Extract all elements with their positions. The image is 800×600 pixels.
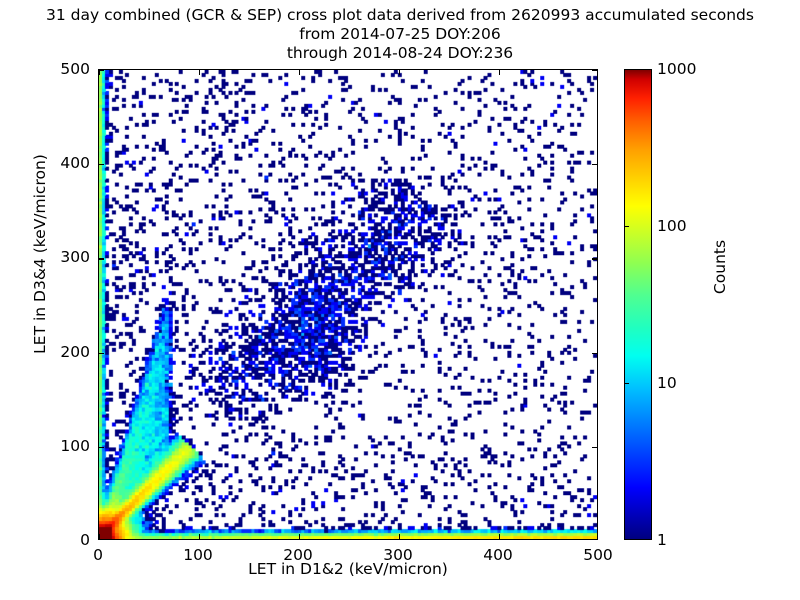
y-tick-mark-right <box>592 164 597 165</box>
plot-axes <box>98 69 598 540</box>
colorbar-tick-mark <box>624 69 629 70</box>
y-tick-mark-right <box>592 258 597 259</box>
x-tick-mark <box>299 534 300 539</box>
x-tick-mark <box>199 534 200 539</box>
colorbar-tick-mark <box>624 226 629 227</box>
y-tick-mark <box>99 70 104 71</box>
x-tick-mark <box>499 534 500 539</box>
y-tick-mark <box>99 447 104 448</box>
x-tick-mark <box>399 534 400 539</box>
y-tick-label: 100 <box>40 437 90 455</box>
y-tick-mark <box>99 164 104 165</box>
title-line-2: from 2014-07-25 DOY:206 <box>0 25 800 44</box>
colorbar-tick-label: 1000 <box>657 60 696 78</box>
x-tick-mark-top <box>499 70 500 75</box>
y-tick-mark-right <box>592 70 597 71</box>
y-tick-mark-right <box>592 447 597 448</box>
colorbar-tick-label: 10 <box>657 374 677 392</box>
colorbar-tick-label: 100 <box>657 217 687 235</box>
x-tick-mark-top <box>199 70 200 75</box>
y-tick-mark <box>99 258 104 259</box>
colorbar-label: Counts <box>711 207 729 327</box>
chart-title: 31 day combined (GCR & SEP) cross plot d… <box>0 6 800 63</box>
x-axis-label: LET in D1&2 (keV/micron) <box>98 560 598 578</box>
y-tick-mark-right <box>592 353 597 354</box>
colorbar-gradient <box>624 69 652 540</box>
colorbar-tick-mark <box>624 383 629 384</box>
y-tick-label: 500 <box>40 60 90 78</box>
colorbar-tick-mark <box>624 539 629 540</box>
y-tick-mark <box>99 353 104 354</box>
x-tick-mark-top <box>399 70 400 75</box>
colorbar-tick-label: 1 <box>657 531 667 549</box>
heatmap-canvas <box>99 70 597 539</box>
y-tick-label: 0 <box>40 531 90 549</box>
x-tick-mark <box>99 534 100 539</box>
colorbar <box>624 69 652 540</box>
x-tick-mark-top <box>299 70 300 75</box>
y-axis-label: LET in D3&4 (keV/micron) <box>31 154 49 354</box>
title-line-1: 31 day combined (GCR & SEP) cross plot d… <box>0 6 800 25</box>
